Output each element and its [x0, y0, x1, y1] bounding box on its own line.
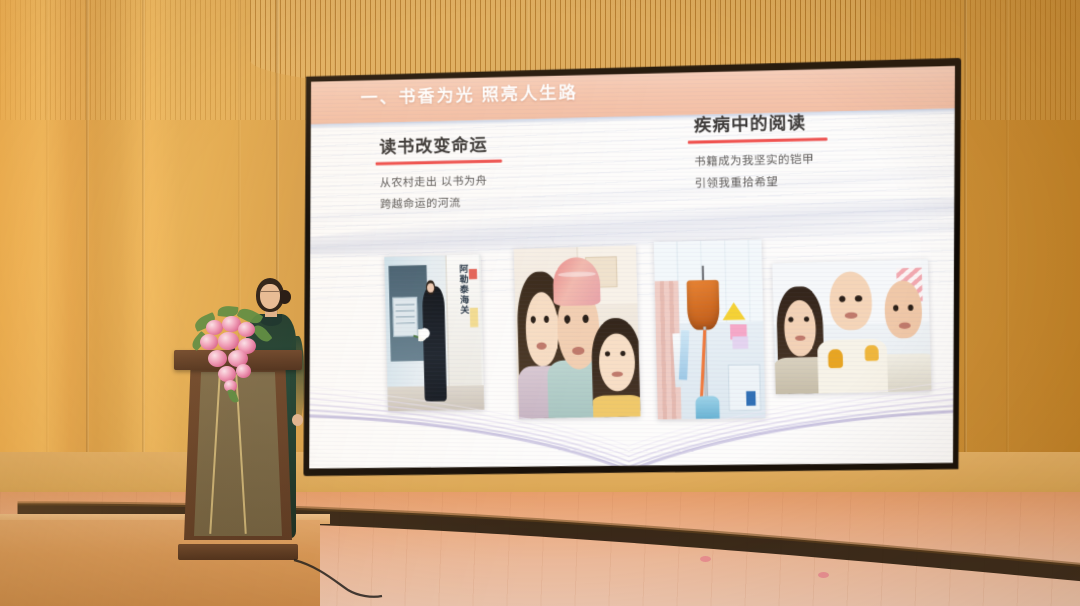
presenter-glasses — [261, 291, 279, 295]
power-cable — [292, 556, 384, 598]
wooden-lectern — [178, 350, 298, 560]
pink-lily-bouquet — [192, 306, 278, 410]
lectern-base — [178, 544, 298, 560]
column-heading: 读书改变命运 — [379, 127, 612, 158]
floor-marker-dot — [818, 572, 829, 578]
column-heading: 疾病中的阅读 — [694, 105, 936, 137]
column-subtitle-line1: 从农村走出 以书为舟 — [380, 169, 613, 194]
conference-hall-scene: 一、书香为光 照亮人生路 读书改变命运 从农村走出 以书为舟 跨越命运的河流 疾… — [0, 0, 1080, 606]
slide-canvas: 一、书香为光 照亮人生路 读书改变命运 从农村走出 以书为舟 跨越命运的河流 疾… — [309, 65, 955, 477]
column-underline — [376, 159, 503, 165]
slide-column-left: 读书改变命运 从农村走出 以书为舟 跨越命运的河流 — [379, 127, 613, 215]
column-subtitle-line1: 书籍成为我坚实的铠甲 — [694, 148, 936, 173]
presentation-screen[interactable]: 一、书香为光 照亮人生路 读书改变命运 从农村走出 以书为舟 跨越命运的河流 疾… — [303, 58, 961, 484]
floor-marker-dot — [700, 556, 711, 562]
column-underline — [688, 138, 828, 144]
open-book-graphic — [309, 369, 955, 477]
slide-column-right: 疾病中的阅读 书籍成为我坚实的铠甲 引领我重拾希望 — [694, 105, 937, 195]
photo-caption-text: 阿勒泰海关 — [447, 264, 469, 315]
